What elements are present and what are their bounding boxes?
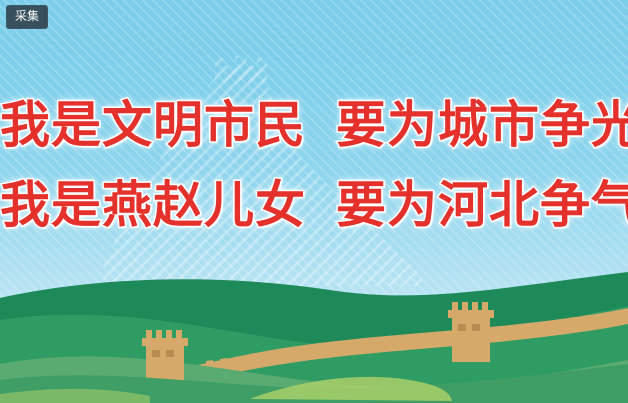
landscape-illustration bbox=[0, 268, 628, 403]
great-wall-tower-right bbox=[448, 302, 494, 362]
capture-button[interactable]: 采集 bbox=[6, 5, 48, 29]
banner-image: 我是文明市民要为城市争光 我是燕赵儿女要为河北争气 bbox=[0, 0, 628, 403]
slogan-line-1-left: 我是文明市民 bbox=[0, 100, 306, 150]
slogan-line-2: 我是燕赵儿女要为河北争气 bbox=[0, 180, 628, 230]
slogan-line-2-right: 要为河北争气 bbox=[336, 180, 628, 230]
slogan-line-2-left: 我是燕赵儿女 bbox=[0, 180, 306, 230]
slogan-line-1: 我是文明市民要为城市争光 bbox=[0, 100, 628, 150]
slogan-line-1-right: 要为城市争光 bbox=[336, 100, 628, 150]
